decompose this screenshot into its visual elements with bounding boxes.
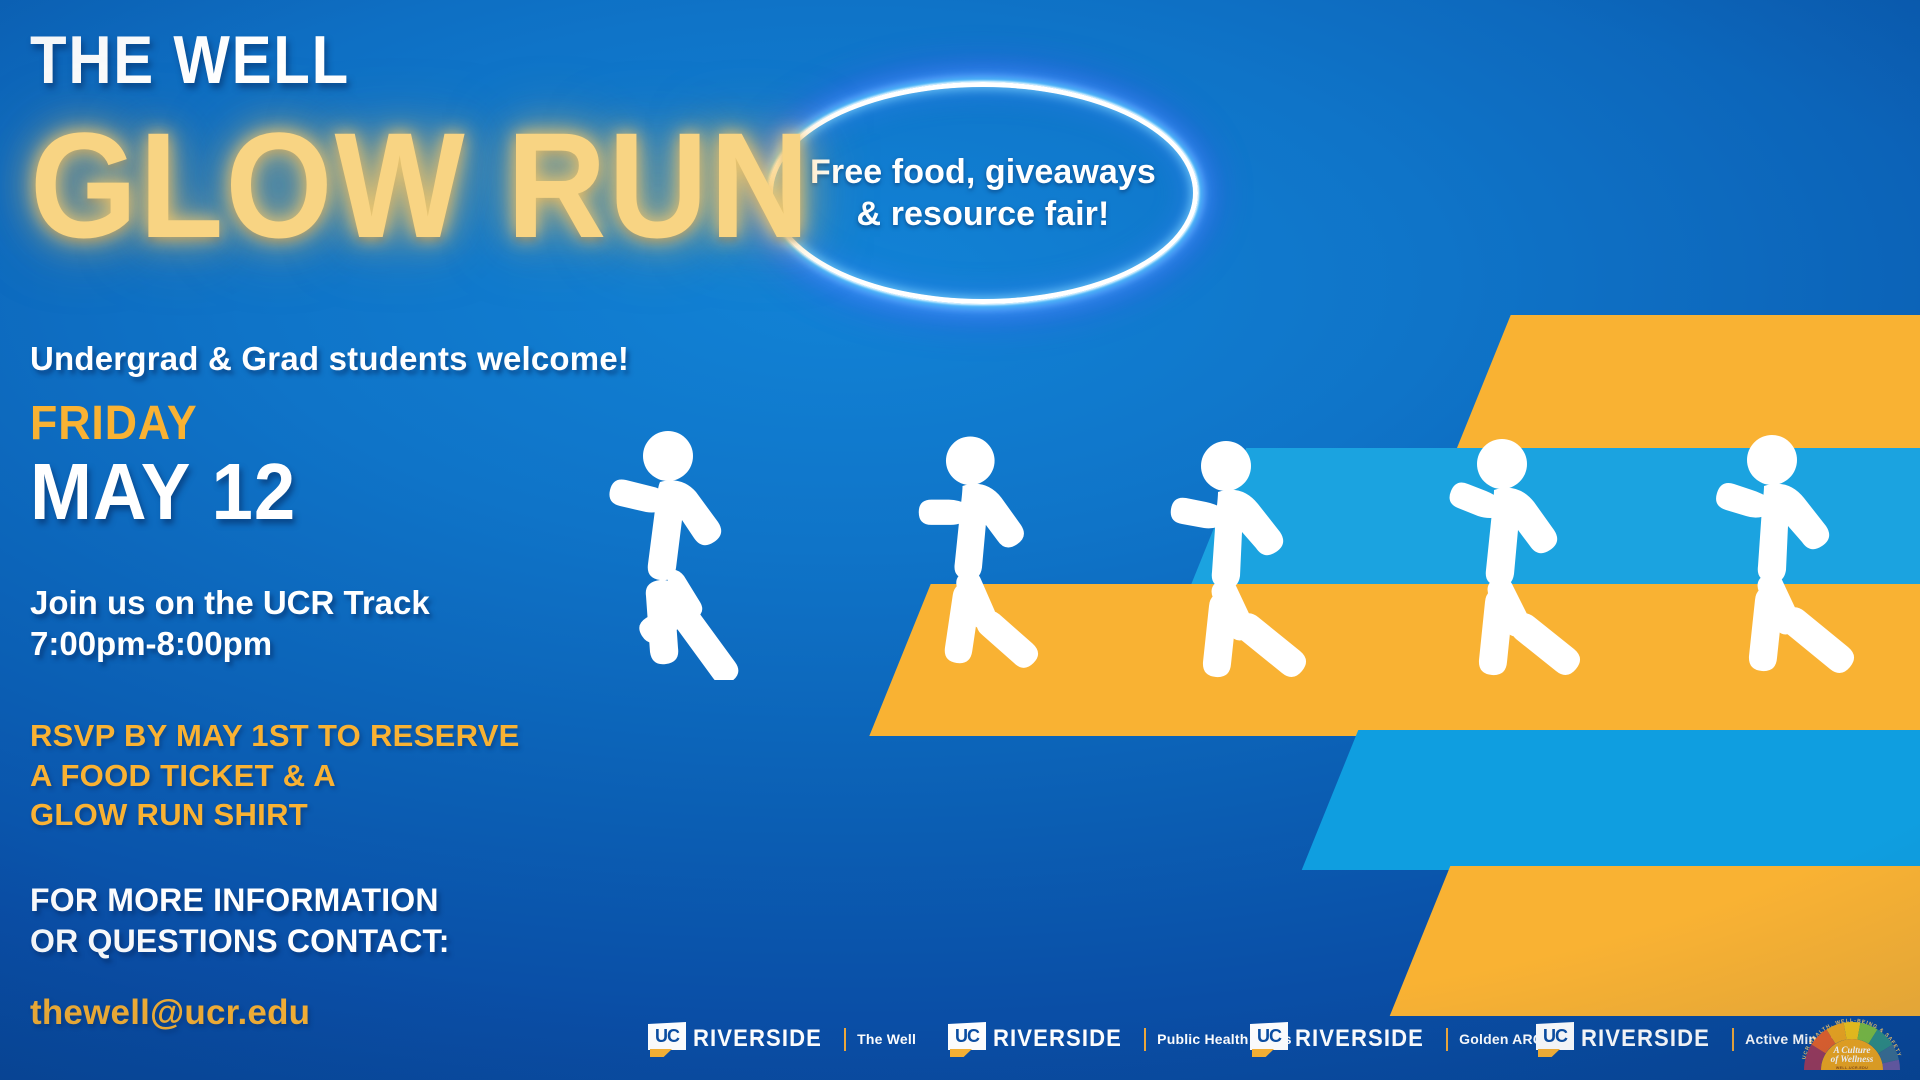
contact-line-2: OR QUESTIONS CONTACT: (30, 921, 450, 962)
logo-ucr-active-minds: UC RIVERSIDE Active Minds (1536, 1022, 1834, 1056)
logo-wordmark: RIVERSIDE (993, 1025, 1122, 1053)
audience-line: Undergrad & Grad students welcome! (30, 340, 629, 378)
location-line-2: 7:00pm-8:00pm (30, 623, 430, 664)
location-line-1: Join us on the UCR Track (30, 582, 430, 623)
logo-wordmark: RIVERSIDE (1295, 1025, 1424, 1053)
runner-silhouette-5 (1712, 434, 1892, 684)
brand-title: THE WELL (30, 26, 350, 94)
uc-mark-label: UC (1540, 1026, 1570, 1046)
logo-divider (1144, 1028, 1146, 1051)
callout-text: Free food, giveaways & resource fair! (802, 151, 1163, 235)
rsvp-line-1: RSVP BY MAY 1ST TO RESERVE (30, 716, 520, 756)
uc-shield-icon: UC (1250, 1022, 1288, 1056)
callout-line-1: Free food, giveaways (802, 151, 1163, 193)
stripe-gold-3 (1390, 866, 1920, 1016)
logo-wordmark: RIVERSIDE (1581, 1025, 1710, 1053)
logo-ucr-public-health-peers: UC RIVERSIDE Public Health Peers (948, 1022, 1292, 1056)
callout-line-2: & resource fair! (802, 193, 1163, 235)
uc-mark-label: UC (1254, 1026, 1284, 1046)
event-day: FRIDAY (30, 400, 198, 448)
logo-wordmark: RIVERSIDE (693, 1025, 822, 1053)
poster-canvas: Free food, giveaways & resource fair! TH… (0, 0, 1920, 1080)
logo-divider (844, 1028, 846, 1051)
runner-silhouette-3 (1168, 440, 1348, 690)
uc-shield-icon: UC (1536, 1022, 1574, 1056)
rsvp-block: RSVP BY MAY 1ST TO RESERVE A FOOD TICKET… (30, 716, 520, 835)
badge-footer-text: WELL.UCR.EDU (1836, 1066, 1868, 1070)
rsvp-line-3: GLOW RUN SHIRT (30, 795, 520, 835)
event-date: MAY 12 (30, 452, 296, 532)
logo-divider (1446, 1028, 1448, 1051)
stripe-cyan-2 (1302, 730, 1920, 870)
logo-divider (1732, 1028, 1734, 1051)
logo-ucr-the-well: UC RIVERSIDE The Well (648, 1022, 916, 1056)
logo-unit-name: The Well (857, 1031, 916, 1047)
contact-block: FOR MORE INFORMATION OR QUESTIONS CONTAC… (30, 880, 450, 962)
uc-shield-icon: UC (648, 1022, 686, 1056)
callout-neon-ellipse: Free food, giveaways & resource fair! (768, 82, 1198, 304)
culture-of-wellness-badge: UCR HEALTH, WELL-BEING & SAFETY A Cultur… (1794, 1006, 1910, 1076)
uc-mark-label: UC (952, 1026, 982, 1046)
location-block: Join us on the UCR Track 7:00pm-8:00pm (30, 582, 430, 665)
badge-center-line-2: of Wellness (1831, 1054, 1874, 1064)
runner-silhouette-1 (608, 430, 788, 680)
contact-line-1: FOR MORE INFORMATION (30, 880, 450, 921)
rsvp-line-2: A FOOD TICKET & A (30, 756, 520, 796)
uc-mark-label: UC (652, 1026, 682, 1046)
runner-silhouette-4 (1440, 438, 1620, 688)
event-title: GLOW RUN (30, 110, 811, 260)
runner-silhouette-2 (910, 432, 1085, 682)
uc-shield-icon: UC (948, 1022, 986, 1056)
sponsor-logo-row: UC RIVERSIDE The Well UC RIVERSIDE Publi… (0, 1008, 1920, 1076)
logo-ucr-golden-arches: UC RIVERSIDE Golden ARCHES (1250, 1022, 1572, 1056)
